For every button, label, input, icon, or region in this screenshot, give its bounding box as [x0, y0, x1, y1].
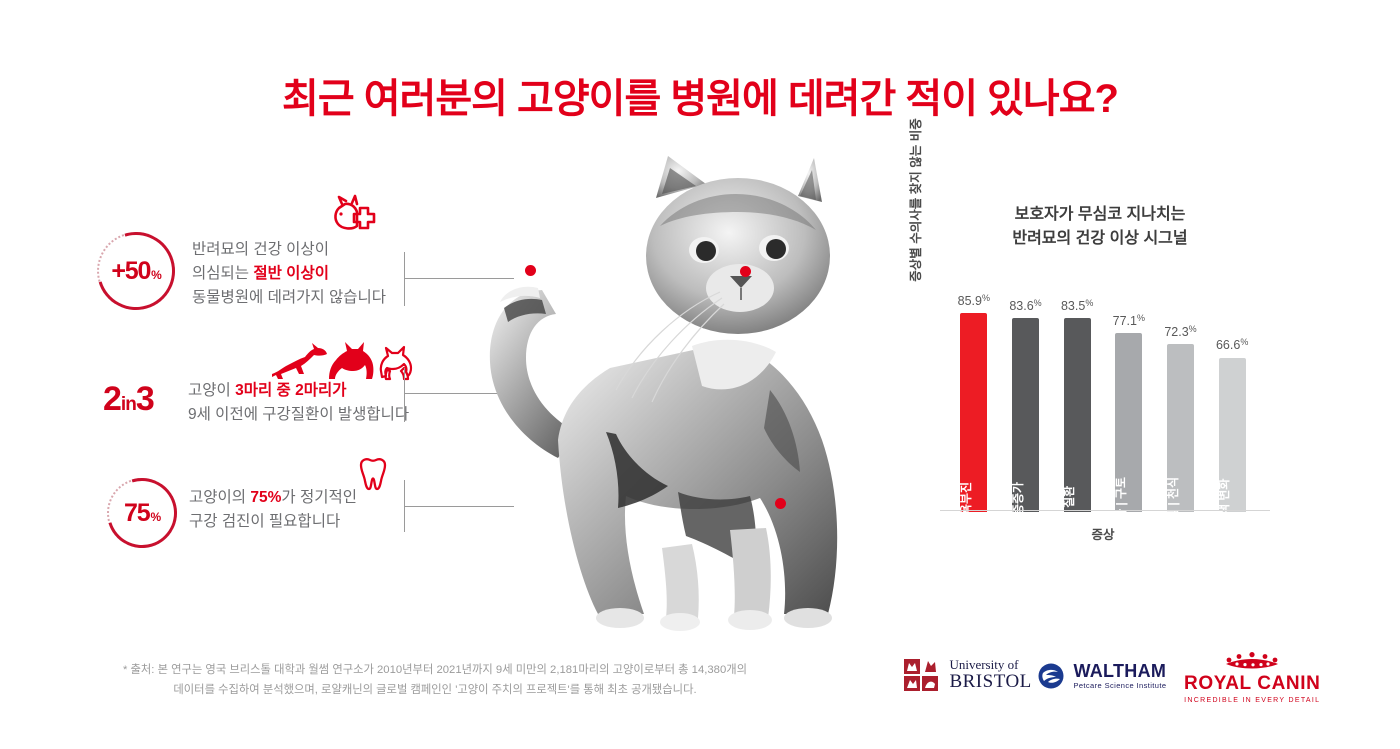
- chart-baseline: [940, 510, 1270, 511]
- chart-bar-category: 갈증증가: [1009, 482, 1026, 526]
- chart-bar-value: 85.9%: [958, 292, 990, 308]
- stat-badge-value-3: 75%: [107, 478, 177, 548]
- marker-dot-tail: [525, 265, 536, 276]
- chart-bar-value: 72.3%: [1164, 323, 1196, 339]
- logo-row: University of BRISTOL WALTHAM Petcare Sc…: [890, 650, 1350, 712]
- connector-vertical-1: [404, 252, 405, 306]
- bristol-line1: University of: [949, 658, 1031, 672]
- marker-dot-belly: [775, 498, 786, 509]
- connector-vertical-2: [404, 368, 405, 422]
- chart-bar: 72.3%기침 | 천식: [1167, 344, 1194, 512]
- waltham-tagline: Petcare Science Institute: [1073, 682, 1166, 690]
- cat-medical-cross-icon: [330, 192, 392, 245]
- chart-y-axis-label: 증상별 수의사를 찾지 않는 비중: [905, 100, 924, 300]
- infographic-root: 최근 여러분의 고양이를 병원에 데려간 적이 있나요? +50% 반려묘의 건…: [0, 0, 1400, 749]
- marker-dot-nose: [740, 266, 751, 277]
- chart-bar-value: 83.5%: [1061, 297, 1093, 313]
- logo-royal-canin: ROYAL CANIN INCREDIBLE IN EVERY DETAIL: [1184, 652, 1320, 704]
- crown-icon: [1217, 652, 1287, 672]
- bristol-line2: BRISTOL: [949, 672, 1031, 692]
- logo-university-of-bristol: University of BRISTOL: [904, 658, 1032, 692]
- tooth-icon: [353, 455, 393, 500]
- chart-bar-category: 털 색 변화: [1215, 479, 1232, 530]
- cat-photo: [430, 140, 900, 640]
- chart-bar: 66.6%털 색 변화: [1219, 358, 1246, 513]
- three-cats-icon: [268, 338, 416, 389]
- stat-text-3: 고양이의 75%가 정기적인 구강 검진이 필요합니다: [189, 486, 357, 534]
- logo-waltham: WALTHAM Petcare Science Institute: [1038, 662, 1166, 690]
- chart-bar-value: 83.6%: [1009, 297, 1041, 313]
- chart-bar-category: 기침 | 천식: [1164, 477, 1181, 531]
- chart-title: 보호자가 무심코 지나치는 반려묘의 건강 이상 시그널: [930, 203, 1270, 251]
- chart-bar-category: 식욕부진: [957, 482, 974, 526]
- stat-big-value-2: 2in3: [103, 380, 154, 419]
- chart-bar: 77.1%설사 | 구토: [1115, 333, 1142, 512]
- stat-badge-3: 75%: [107, 478, 177, 548]
- chart-bar-value: 66.6%: [1216, 336, 1248, 352]
- stat-text-1: 반려묘의 건강 이상이 의심되는 절반 이상이 동물병원에 데려가지 않습니다: [192, 238, 386, 310]
- chart-plot-area: 85.9%식욕부진83.6%갈증증가83.5%귀 질환77.1%설사 | 구토7…: [948, 280, 1258, 512]
- stat-badge-value-1: +50%: [97, 232, 175, 310]
- chart-bar-value: 77.1%: [1113, 312, 1145, 328]
- stat-badge-1: +50%: [97, 232, 175, 310]
- chart-bar-category: 설사 | 구토: [1112, 477, 1129, 531]
- chart-bar: 83.5%귀 질환: [1064, 318, 1091, 512]
- chart-bar: 83.6%갈증증가: [1012, 318, 1039, 512]
- chart-x-axis-label: 증상: [948, 524, 1258, 543]
- waltham-name: WALTHAM: [1073, 662, 1166, 682]
- royalcanin-name: ROYAL CANIN: [1184, 673, 1320, 695]
- chart-bar: 85.9%식욕부진: [960, 313, 987, 512]
- page-title: 최근 여러분의 고양이를 병원에 데려간 적이 있나요?: [0, 66, 1400, 124]
- royalcanin-tagline: INCREDIBLE IN EVERY DETAIL: [1184, 697, 1320, 704]
- footnote: * 출처: 본 연구는 영국 브리스톨 대학과 월썸 연구소가 2010년부터 …: [95, 661, 775, 701]
- chart-bar-category: 귀 질환: [1060, 486, 1077, 522]
